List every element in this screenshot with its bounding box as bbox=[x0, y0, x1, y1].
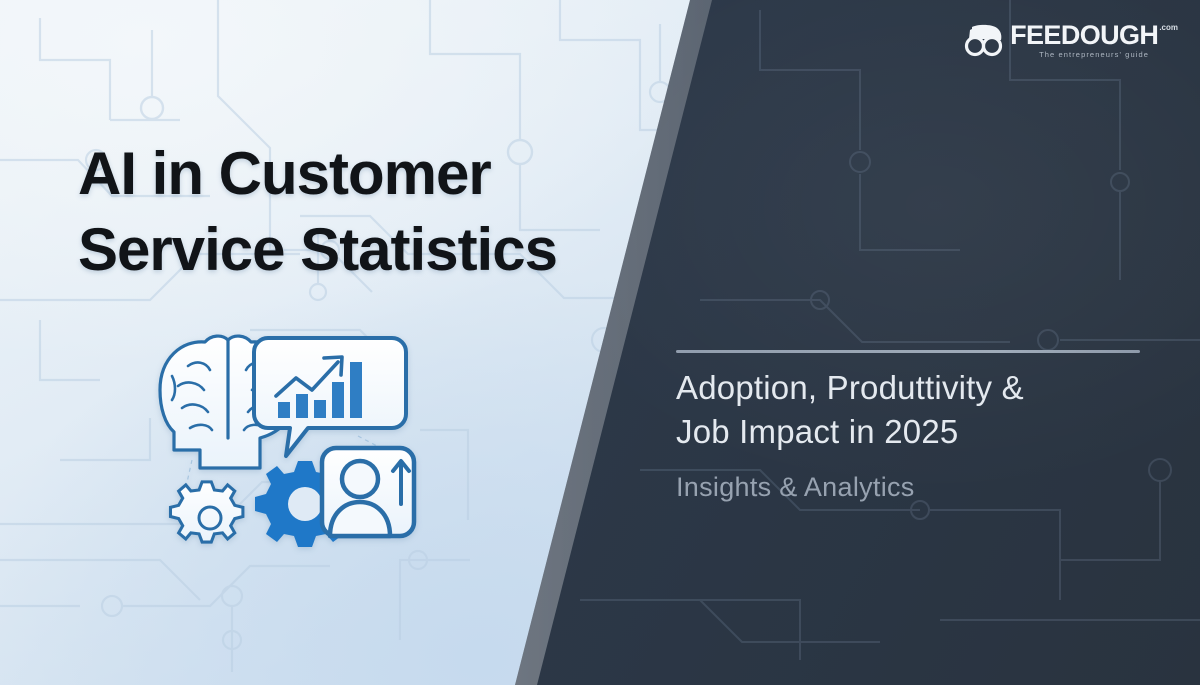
page-title-line2: Service Statistics bbox=[78, 212, 678, 288]
small-gear-icon bbox=[170, 482, 242, 542]
page-title: AI in Customer Service Statistics bbox=[78, 136, 678, 288]
logo-tld: .com bbox=[1159, 23, 1178, 32]
brand-logo[interactable]: FEEDOUGH .com The entrepreneurs' guide bbox=[964, 22, 1178, 59]
person-growth-frame-icon bbox=[322, 448, 414, 536]
logo-tagline: The entrepreneurs' guide bbox=[1010, 50, 1178, 59]
page-title-line1: AI in Customer bbox=[78, 140, 491, 207]
logo-word: FEEDOUGH bbox=[1010, 22, 1158, 49]
tagline: Insights & Analytics bbox=[676, 468, 915, 506]
subtitle-divider-rule bbox=[676, 350, 1140, 353]
slide-canvas: AI in Customer Service Statistics bbox=[0, 0, 1200, 685]
logo-wordmark: FEEDOUGH .com bbox=[1010, 22, 1178, 49]
logo-text-block: FEEDOUGH .com The entrepreneurs' guide bbox=[1010, 22, 1178, 59]
subtitle: Adoption, Produttivity & Job Impact in 2… bbox=[676, 366, 1156, 454]
ai-customer-service-icon-cluster bbox=[148, 328, 418, 548]
subtitle-line1: Adoption, Produttivity & bbox=[676, 369, 1024, 406]
subtitle-line2: Job Impact in 2025 bbox=[676, 410, 1156, 454]
chart-speech-bubble-icon bbox=[254, 338, 406, 456]
feedough-glasses-icon bbox=[964, 24, 1004, 58]
